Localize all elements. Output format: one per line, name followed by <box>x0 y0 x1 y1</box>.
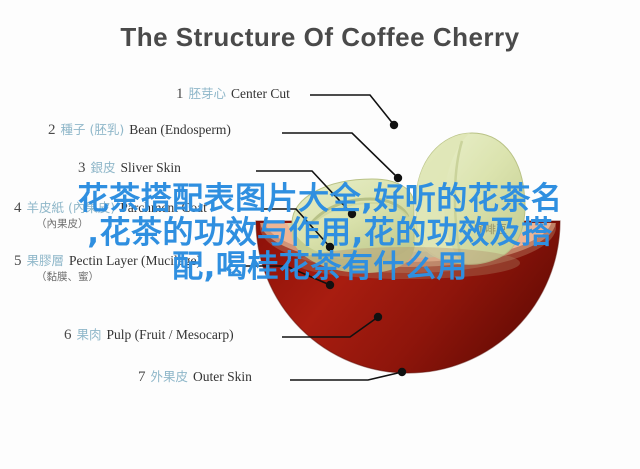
callout-number-1: 1 <box>176 86 184 102</box>
watermark-overlay: 花茶搭配表图片大全,好听的花茶名 ,花茶的功效与作用,花的功效及搭 配,喝桂花茶… <box>0 182 640 284</box>
callout-cjk-7: 外果皮 <box>151 369 189 384</box>
callout-label-2: 2種子 (胚乳)Bean (Endosperm) <box>48 122 231 139</box>
callout-label-1: 1胚芽心Center Cut <box>176 86 290 103</box>
callout-cjk-6: 果肉 <box>77 327 102 342</box>
callout-en-7: Outer Skin <box>193 369 252 384</box>
callout-label-3: 3銀皮Sliver Skin <box>78 160 181 177</box>
callout-number-6: 6 <box>64 327 72 343</box>
callout-en-6: Pulp (Fruit / Mesocarp) <box>107 327 234 342</box>
image-canvas: The Structure Of Coffee Cherry <box>0 0 640 469</box>
callout-cjk-2: 種子 (胚乳) <box>61 122 125 137</box>
callout-label-7: 7外果皮Outer Skin <box>138 369 252 386</box>
callout-number-2: 2 <box>48 122 56 138</box>
callout-number-7: 7 <box>138 369 146 385</box>
page-title: The Structure Of Coffee Cherry <box>0 22 640 53</box>
callout-cjk-1: 胚芽心 <box>189 86 227 101</box>
callout-number-3: 3 <box>78 160 86 176</box>
callout-label-6: 6果肉Pulp (Fruit / Mesocarp) <box>64 327 234 344</box>
watermark-line-1: 花茶搭配表图片大全,好听的花茶名 <box>0 182 640 216</box>
watermark-line-3: 配,喝桂花茶有什么用 <box>0 250 640 284</box>
callout-en-1: Center Cut <box>231 86 290 101</box>
watermark-line-2: ,花茶的功效与作用,花的功效及搭 <box>0 216 640 250</box>
callout-en-3: Sliver Skin <box>121 160 181 175</box>
callout-en-2: Bean (Endosperm) <box>129 122 231 137</box>
callout-cjk-3: 銀皮 <box>91 160 116 175</box>
